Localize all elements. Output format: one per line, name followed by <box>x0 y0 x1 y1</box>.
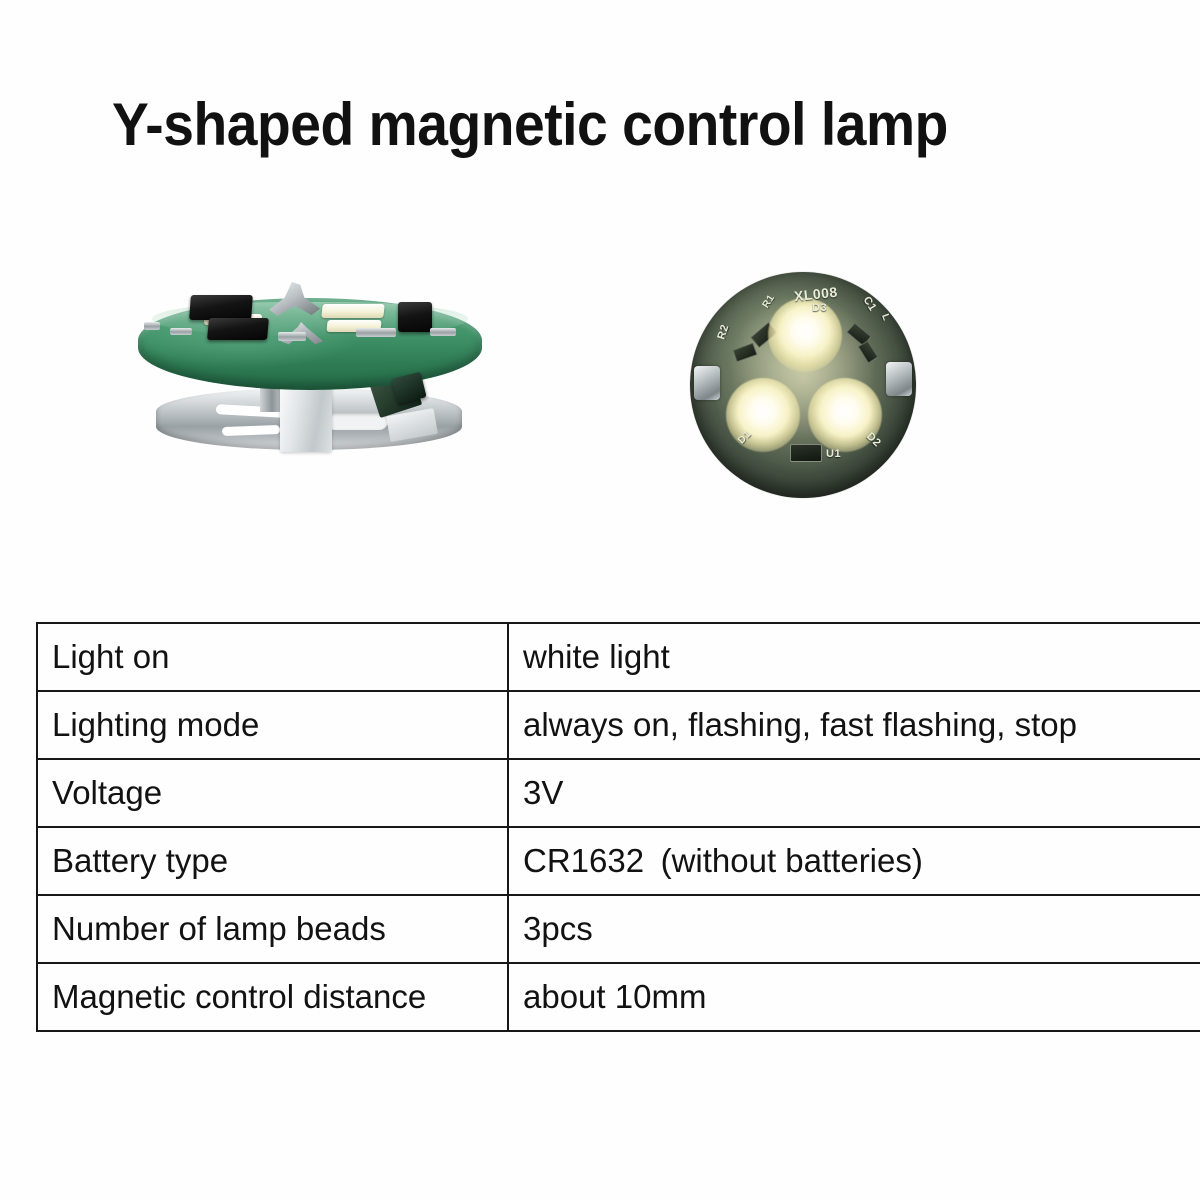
spec-label: Number of lamp beads <box>37 895 508 963</box>
spec-label: Light on <box>37 623 508 691</box>
spec-value: always on, flashing, fast flashing, stop <box>508 691 1200 759</box>
product-info-page: Y-shaped magnetic control lamp <box>0 0 1200 1200</box>
table-row: Magnetic control distance about 10mm <box>37 963 1200 1031</box>
smd-component <box>189 295 253 320</box>
spec-value: 3pcs <box>508 895 1200 963</box>
specification-table-body: Light on white light Lighting mode alway… <box>37 623 1200 1031</box>
pcb-board-round: XL008 D3 C1 L R1 R2 U1 D2 D1 <box>690 272 916 498</box>
solder-pad-right <box>886 362 912 396</box>
solder-pin <box>356 328 396 337</box>
spec-value: about 10mm <box>508 963 1200 1031</box>
solder-pin <box>430 328 456 336</box>
specification-table: Light on white light Lighting mode alway… <box>36 622 1200 1032</box>
table-row: Battery type CR1632 (without batteries) <box>37 827 1200 895</box>
smd-component <box>398 302 432 332</box>
silkscreen-d3: D3 <box>812 302 827 314</box>
silkscreen-u1: U1 <box>826 448 841 460</box>
silkscreen-l: L <box>879 313 892 323</box>
led-bead <box>321 304 384 318</box>
spec-label: Voltage <box>37 759 508 827</box>
product-image-top-view: XL008 D3 C1 L R1 R2 U1 D2 D1 <box>690 272 926 498</box>
led-bead-d3 <box>768 298 842 372</box>
solder-pin <box>170 328 192 335</box>
solder-pin <box>144 322 160 330</box>
solder-pad-left <box>694 366 720 400</box>
spec-label: Magnetic control distance <box>37 963 508 1031</box>
table-row: Lighting mode always on, flashing, fast … <box>37 691 1200 759</box>
ic-chip-u1 <box>790 444 822 462</box>
product-image-side-view <box>130 270 490 480</box>
spec-label: Lighting mode <box>37 691 508 759</box>
page-title: Y-shaped magnetic control lamp <box>112 90 948 159</box>
spec-label: Battery type <box>37 827 508 895</box>
table-row: Voltage 3V <box>37 759 1200 827</box>
smd-component <box>207 318 269 340</box>
solder-pin <box>278 332 306 341</box>
table-row: Light on white light <box>37 623 1200 691</box>
spec-value: CR1632 (without batteries) <box>508 827 1200 895</box>
spec-value: 3V <box>508 759 1200 827</box>
product-photo-row: XL008 D3 C1 L R1 R2 U1 D2 D1 <box>0 250 1200 520</box>
table-row: Number of lamp beads 3pcs <box>37 895 1200 963</box>
led-bead-d1 <box>726 378 800 452</box>
spec-value: white light <box>508 623 1200 691</box>
